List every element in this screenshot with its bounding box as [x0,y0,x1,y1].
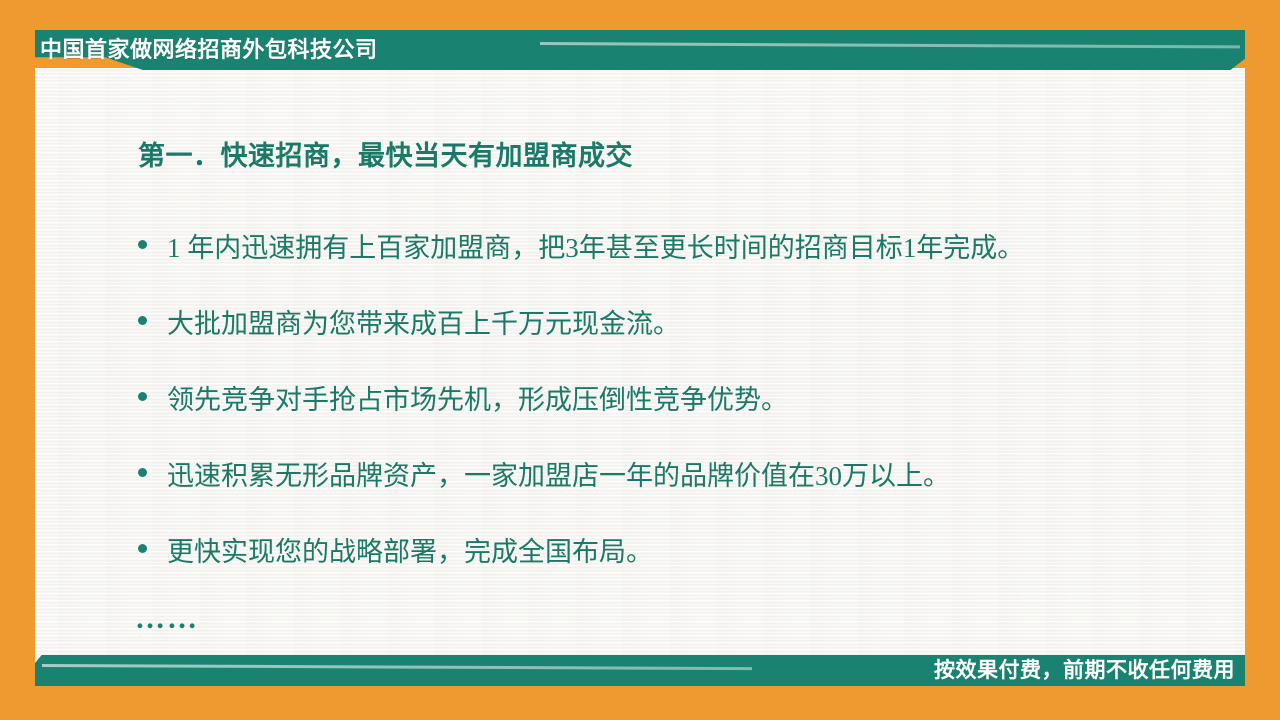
page-title: 第一．快速招商，最快当天有加盟商成交 [138,134,633,173]
list-item: 领先竞争对手抢占市场先机，形成压倒性竞争优势。 [138,380,1228,456]
list-item: 更快实现您的战略部署，完成全国布局。 [138,532,1228,608]
benefit-bullet-list: 1 年内迅速拥有上百家加盟商，把3年甚至更长时间的招商目标1年完成。 大批加盟商… [138,228,1228,608]
list-item-label: 1 年内迅速拥有上百家加盟商，把3年甚至更长时间的招商目标1年完成。 [167,228,1024,268]
presentation-slide: 中国首家做网络招商外包科技公司 第一．快速招商，最快当天有加盟商成交 1 年内迅… [0,0,1280,720]
bullet-dot-icon [138,240,147,249]
list-item: 1 年内迅速拥有上百家加盟商，把3年甚至更长时间的招商目标1年完成。 [138,228,1228,304]
list-item-label: 迅速积累无形品牌资产，一家加盟店一年的品牌价值在30万以上。 [167,456,950,496]
list-item: 迅速积累无形品牌资产，一家加盟店一年的品牌价值在30万以上。 [138,456,1228,532]
list-item: 大批加盟商为您带来成百上千万元现金流。 [138,304,1228,380]
company-tagline-header: 中国首家做网络招商外包科技公司 [40,33,378,67]
bullet-dot-icon [138,316,147,325]
list-item-label: 更快实现您的战略部署，完成全国布局。 [167,532,653,572]
footer-tagline: 按效果付费，前期不收任何费用 [934,656,1235,685]
bullet-dot-icon [138,392,147,401]
bullet-dot-icon [138,468,147,477]
bullet-dot-icon [138,544,147,553]
list-item-label: 大批加盟商为您带来成百上千万元现金流。 [167,304,680,344]
slide-content: 第一．快速招商，最快当天有加盟商成交 1 年内迅速拥有上百家加盟商，把3年甚至更… [35,68,1245,655]
list-item-label: 领先竞争对手抢占市场先机，形成压倒性竞争优势。 [167,380,788,420]
ellipsis-text: …… [135,609,199,629]
